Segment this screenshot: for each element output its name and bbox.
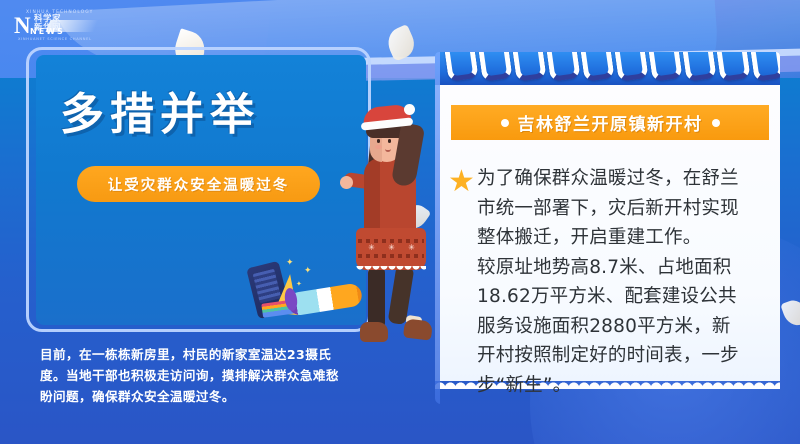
character-boot-left [360,322,388,342]
character-eye-left [377,139,380,143]
logo-news-word: NEWS [30,27,65,36]
banner-dot-right-icon [712,119,720,127]
snowflake-icon: ✳ [368,244,375,251]
character-eye-right [388,139,391,143]
notebook-body-line: 整体搬迁，开启重建工作。 [477,223,772,253]
notebook-body-line: 18.62万平方米、配套建设公共 [477,282,772,312]
petal-decoration-icon [383,24,419,62]
sparkle-icon: ✦ [286,258,294,268]
character-skirt-pattern [358,254,424,258]
sparkle-icon: ✦ [296,280,302,288]
page-title: 多措并举 [60,92,260,138]
notebook-body-line: 开村按照制定好的时间表，一步 [477,341,772,371]
logo-letter-n: N [14,14,31,37]
character-leg-left [368,266,385,328]
brand-logo: XINHUA TECHNOLOGY N 科学家新华网 NEWS XINHUANE… [8,8,94,42]
snowflake-icon: ✳ [388,244,395,251]
notebook-body-line: 为了确保群众温暖过冬，在舒兰 [477,164,772,194]
notebook-body-line: 市统一部署下，灾后新开村实现 [477,194,772,224]
logo-subtitle: XINHUANET SCIENCE CHANNEL [18,37,92,41]
character-boot-right [403,318,433,340]
notebook-spiral-rings [435,52,780,74]
sparkle-icon: ✦ [304,266,312,276]
notebook-banner: 吉林舒兰开原镇新开村 [451,105,769,140]
banner-dot-left-icon [501,119,509,127]
character-cheek [375,145,382,149]
snowflake-icon: ✳ [408,244,415,251]
character-illustration: ✳ ✳ ✳ [330,108,440,348]
infographic-canvas: XINHUA TECHNOLOGY N 科学家新华网 NEWS XINHUANE… [0,0,800,444]
character-skirt-hem [356,266,426,273]
subtitle-pill: 让受灾群众安全温暖过冬 [77,166,320,202]
subtitle-pill-label: 让受灾群众安全温暖过冬 [108,174,290,195]
footer-caption: 目前，在一栋栋新房里，村民的新家室温达23摄氏度。当地干部也积极走访问询，摸排解… [40,344,340,407]
star-icon: ★ [448,169,474,195]
petal-decoration-icon [780,297,800,329]
character-hand [340,176,353,189]
notebook-banner-title: 吉林舒兰开原镇新开村 [518,110,703,135]
notebook-body-line: 服务设施面积2880平方米，新 [477,312,772,342]
notebook-spine [435,52,440,404]
notebook-body-text: 为了确保群众温暖过冬，在舒兰市统一部署下，灾后新开村实现整体搬迁，开启重建工作。… [477,164,772,400]
notebook-body-line: 较原址地势高8.7米、占地面积 [477,253,772,283]
santa-hat-pompom [404,104,415,115]
notebook-body-line: 步“新生”。 [477,371,772,401]
